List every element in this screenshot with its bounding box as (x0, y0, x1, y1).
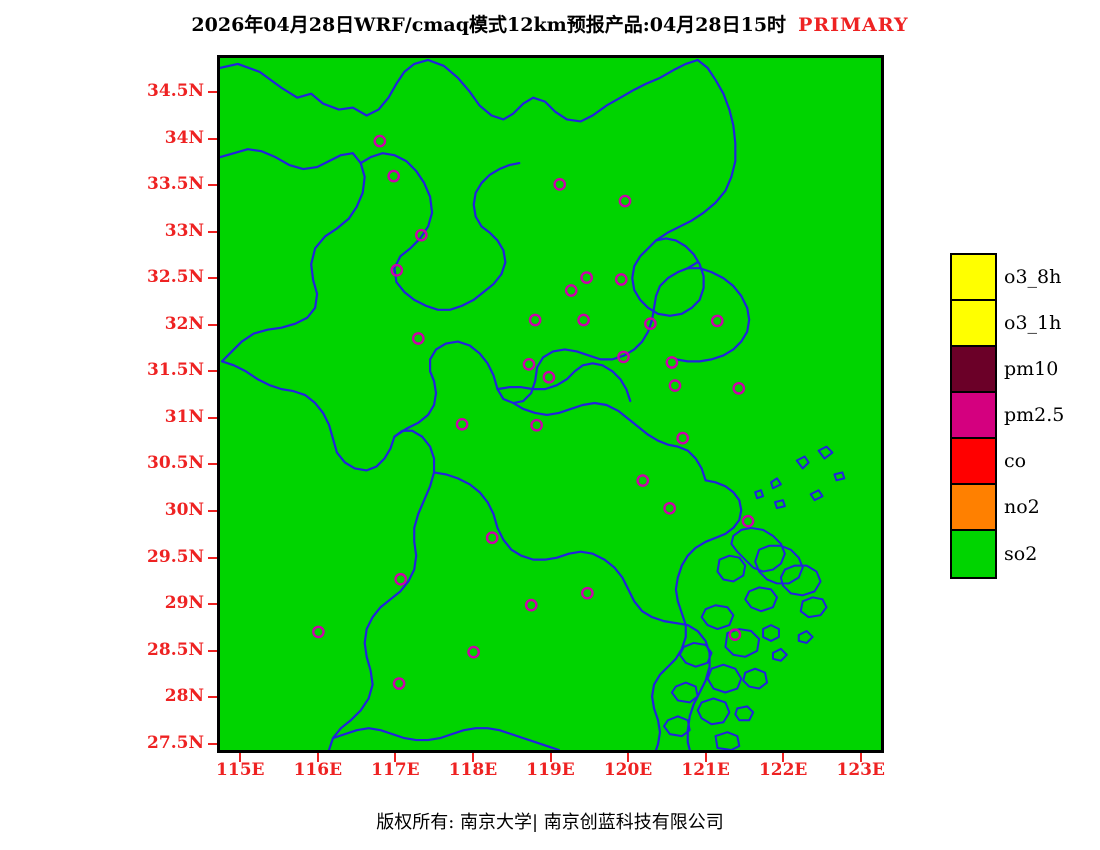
legend-label: pm10 (1004, 358, 1058, 380)
y-axis-tick (208, 463, 217, 465)
y-axis-tick (208, 138, 217, 140)
y-axis-tick (208, 557, 217, 559)
legend-label: pm2.5 (1004, 404, 1064, 426)
legend-swatch-o3-8h[interactable]: o3_8h (952, 255, 995, 301)
legend-label: o3_8h (1004, 266, 1061, 288)
x-axis-label: 120E (588, 760, 668, 780)
y-axis-label: 29.5N (120, 547, 204, 567)
y-axis-tick (208, 696, 217, 698)
x-axis-label: 117E (355, 760, 435, 780)
y-axis-label: 30.5N (120, 453, 204, 473)
y-axis-tick (208, 417, 217, 419)
legend[interactable]: o3_8ho3_1hpm10pm2.5cono2so2 (950, 253, 997, 579)
legend-swatch-no2[interactable]: no2 (952, 485, 995, 531)
y-axis-tick (208, 603, 217, 605)
y-axis-tick (208, 510, 217, 512)
y-axis-tick (208, 324, 217, 326)
y-axis-label: 31.5N (120, 360, 204, 380)
y-axis-label: 28N (120, 686, 204, 706)
y-axis-label: 32N (120, 314, 204, 334)
title-main-text: 2026年04月28日WRF/cmaq模式12km预报产品:04月28日15时 (191, 14, 786, 36)
footer-copyright: 版权所有: 南京大学| 南京创蓝科技有限公司 (0, 808, 1100, 834)
y-axis-tick (208, 370, 217, 372)
legend-label: o3_1h (1004, 312, 1061, 334)
legend-swatch-co[interactable]: co (952, 439, 995, 485)
y-axis-label: 33.5N (120, 174, 204, 194)
legend-swatch-pm10[interactable]: pm10 (952, 347, 995, 393)
y-axis-label: 27.5N (120, 733, 204, 753)
y-axis-label: 33N (120, 221, 204, 241)
x-axis-label: 122E (743, 760, 823, 780)
legend-label: no2 (1004, 496, 1040, 518)
y-axis-tick (208, 184, 217, 186)
legend-label: co (1004, 450, 1026, 472)
y-axis-label: 30N (120, 500, 204, 520)
y-axis-tick (208, 231, 217, 233)
y-axis-label: 34N (120, 128, 204, 148)
map-vector-layer (220, 58, 881, 750)
x-axis-label: 119E (511, 760, 591, 780)
legend-swatch-pm2-5[interactable]: pm2.5 (952, 393, 995, 439)
map-background (220, 58, 881, 750)
y-axis-label: 31N (120, 407, 204, 427)
y-axis-tick (208, 743, 217, 745)
y-axis-label: 32.5N (120, 267, 204, 287)
title-primary-badge: PRIMARY (798, 14, 909, 36)
page-title: 2026年04月28日WRF/cmaq模式12km预报产品:04月28日15时P… (0, 10, 1100, 37)
legend-label: so2 (1004, 543, 1037, 565)
y-axis-tick (208, 91, 217, 93)
y-axis-label: 34.5N (120, 81, 204, 101)
y-axis-label: 29N (120, 593, 204, 613)
map-plot-area[interactable] (217, 55, 884, 753)
y-axis-label: 28.5N (120, 640, 204, 660)
y-axis-tick (208, 277, 217, 279)
x-axis-label: 121E (666, 760, 746, 780)
x-axis-label: 118E (433, 760, 513, 780)
legend-swatch-o3-1h[interactable]: o3_1h (952, 301, 995, 347)
y-axis-tick (208, 650, 217, 652)
x-axis-label: 115E (200, 760, 280, 780)
legend-swatch-so2[interactable]: so2 (952, 531, 995, 577)
x-axis-label: 123E (821, 760, 901, 780)
x-axis-label: 116E (278, 760, 358, 780)
